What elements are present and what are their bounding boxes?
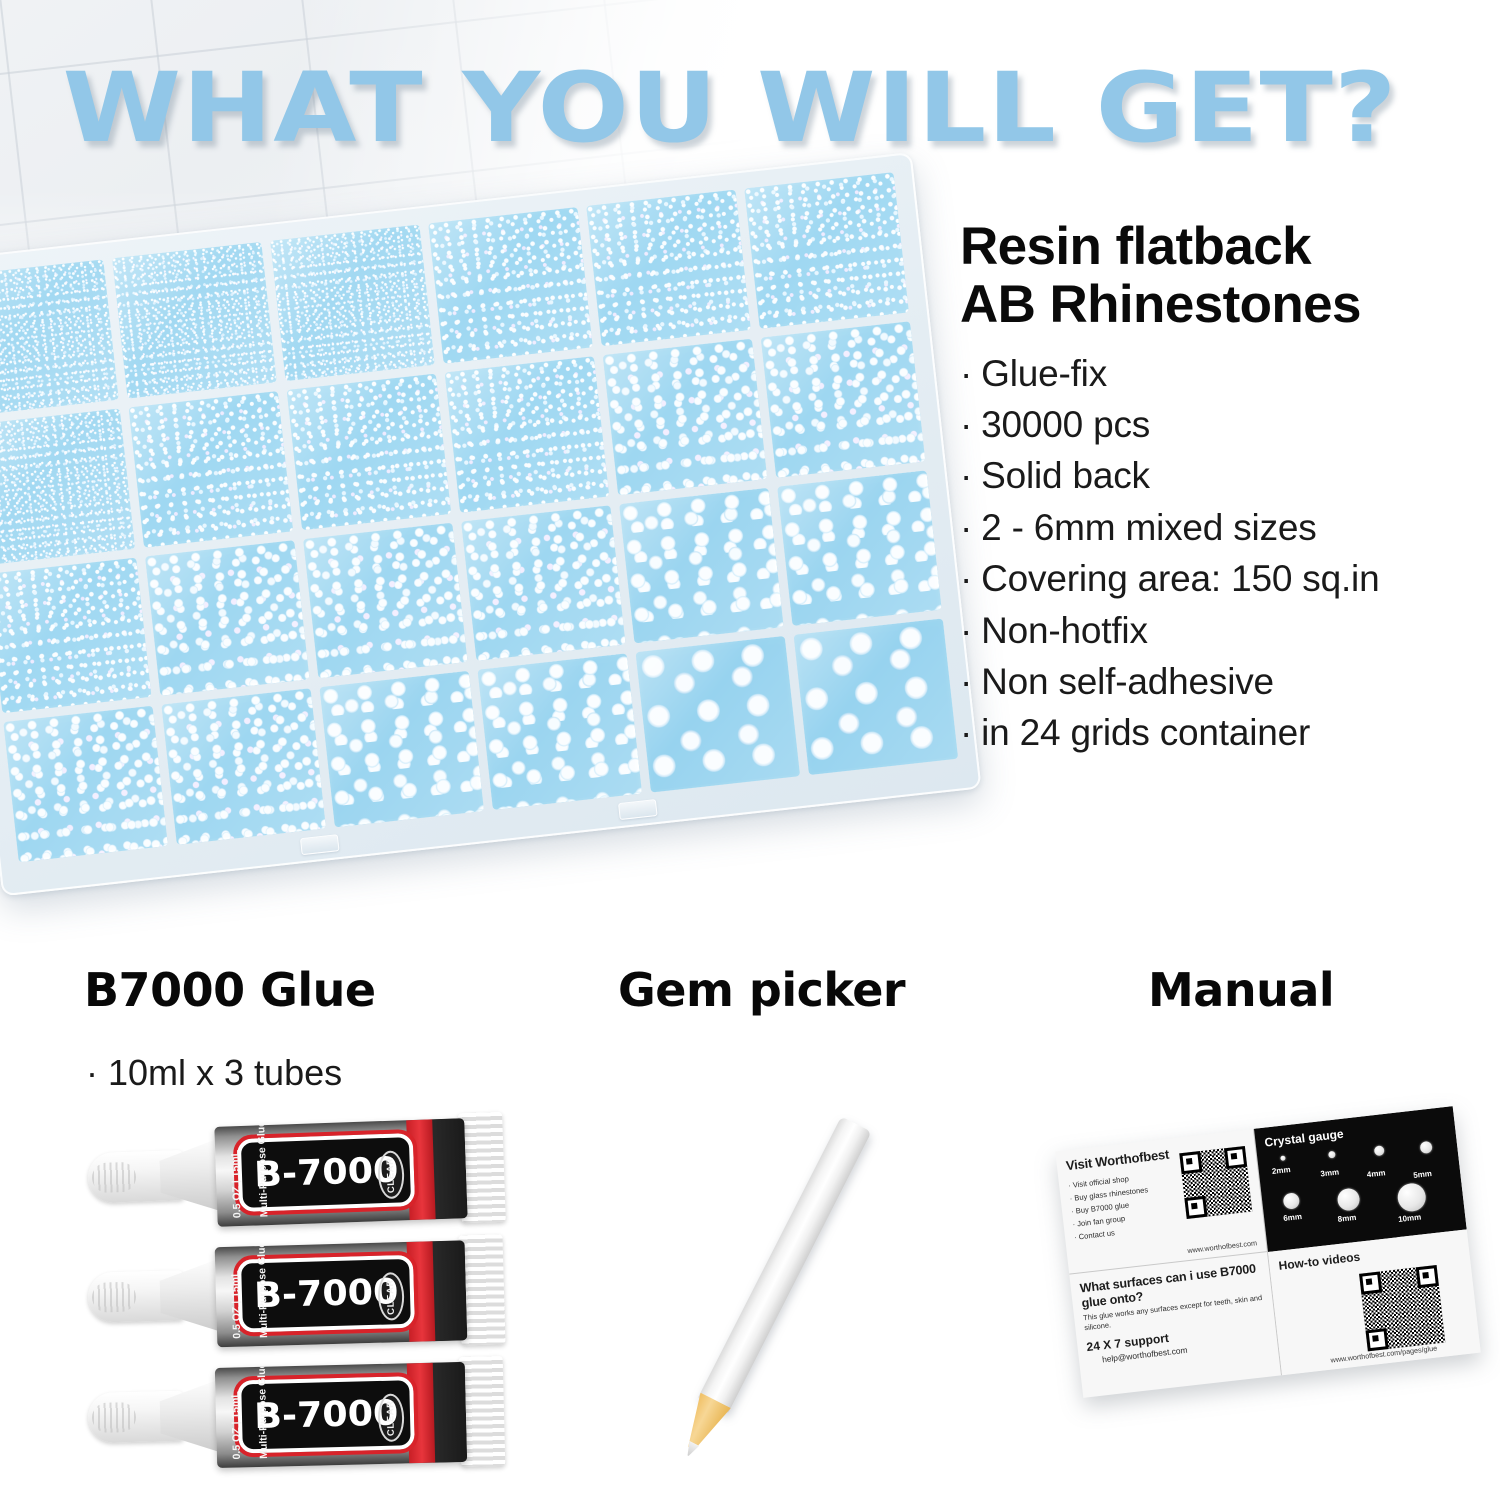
bullet-dot: ·: [960, 507, 972, 548]
bullet-dot: ·: [960, 558, 972, 599]
feature-text: Glue-fix: [981, 353, 1107, 394]
manual-quadrant-visit: Visit Worthofbest · Visit official shop …: [1055, 1129, 1268, 1275]
feature-item: ·Non-hotfix: [960, 605, 1490, 656]
gem-swatch: [1374, 1145, 1385, 1156]
rhinestone-cell: [129, 391, 294, 547]
rhinestone-cell: [270, 225, 435, 381]
bullet-dot: ·: [960, 661, 972, 702]
rhinestone-cell: [0, 408, 135, 564]
gem-size-label: 4mm: [1366, 1168, 1386, 1179]
product-feature-list: ·Glue-fix ·30000 pcs ·Solid back ·2 - 6m…: [960, 348, 1490, 759]
rhinestone-cell: [636, 636, 801, 792]
rhinestone-cell: [303, 522, 468, 678]
tube-body-shadow: [430, 1118, 467, 1219]
gem-size-label: 6mm: [1283, 1212, 1303, 1223]
rhinestone-cell: [161, 688, 326, 844]
glue-tube: B-7000 CLEAR Multi-Purpose Glue 0.5 OZ |…: [87, 1359, 509, 1473]
glue-tube: B-7000 CLEAR Multi-Purpose Glue 0.5 OZ |…: [87, 1237, 510, 1353]
rhinestone-cell: [744, 172, 909, 328]
tube-body: B-7000 CLEAR Multi-Purpose Glue 0.5 OZ |…: [215, 1362, 467, 1468]
feature-item: ·Glue-fix: [960, 348, 1490, 399]
pencil-shaft: [698, 1116, 872, 1413]
rhinestone-cell: [112, 242, 277, 398]
tube-body: B-7000 CLEAR Multi-Purpose Glue 0.5 OZ |…: [215, 1240, 468, 1347]
rhinestone-cell: [0, 557, 152, 713]
rhinestone-cell: [287, 373, 452, 529]
manual-visit-url: www.worthofbest.com: [1187, 1238, 1257, 1255]
rhinestone-cell: [3, 706, 168, 862]
rhinestone-container: [0, 215, 975, 935]
manual-card-surface: Visit Worthofbest · Visit official shop …: [1055, 1106, 1481, 1398]
feature-item: ·30000 pcs: [960, 399, 1490, 450]
qr-finder-icon: [1359, 1271, 1382, 1294]
gem-swatch: [1420, 1141, 1433, 1154]
tube-brand-text: B-7000: [253, 1150, 398, 1195]
rhinestone-cell: [761, 321, 926, 477]
rhinestone-cell: [603, 338, 768, 494]
tube-volume-text: 0.5 OZ | 15mL: [229, 1150, 243, 1219]
rhinestone-cell: [0, 259, 119, 415]
gem-swatch: [1396, 1182, 1427, 1213]
manual-card: Visit Worthofbest · Visit official shop …: [1068, 1128, 1488, 1408]
bullet-dot: ·: [960, 610, 972, 651]
rhinestone-cell: [619, 487, 784, 643]
feature-text: 30000 pcs: [981, 404, 1150, 445]
rhinestone-cell: [794, 619, 959, 775]
tube-purpose-text: Multi-Purpose Glue: [256, 1362, 270, 1459]
tube-purpose-text: Multi-Purpose Glue: [255, 1121, 270, 1218]
tube-purpose-text: Multi-Purpose Glue: [256, 1242, 271, 1339]
bullet-dot: ·: [960, 455, 972, 496]
product-heading-line1: Resin flatback: [960, 217, 1311, 276]
feature-item: ·Covering area: 150 sq.in: [960, 553, 1490, 604]
feature-text: Covering area: 150 sq.in: [981, 558, 1379, 599]
qr-finder-icon: [1184, 1196, 1207, 1219]
rhinestone-box: [0, 152, 982, 896]
tube-volume-text: 0.5 OZ | 15mL: [229, 1391, 243, 1460]
qr-code-icon[interactable]: [1359, 1265, 1445, 1351]
tube-body: B-7000 CLEAR Multi-Purpose Glue 0.5 OZ |…: [214, 1118, 467, 1227]
gem-size-label: 8mm: [1337, 1213, 1357, 1224]
product-heading: Resin flatback AB Rhinestones: [960, 218, 1490, 334]
gem-size-label: 2mm: [1271, 1165, 1291, 1176]
section-heading-glue: B7000 Glue: [84, 963, 376, 1017]
rhinestone-cell: [478, 654, 643, 810]
rhinestone-cell: [445, 356, 610, 512]
feature-text: Solid back: [981, 455, 1150, 496]
gem-swatch: [1328, 1151, 1336, 1159]
gem-swatch: [1336, 1187, 1360, 1211]
manual-quadrant-videos: How-to videos www.worthofbest.com/pages/…: [1268, 1229, 1481, 1375]
rhinestone-cell: [461, 505, 626, 661]
bullet-dot: ·: [960, 353, 972, 394]
tube-clear-text: CLEAR: [385, 1157, 397, 1193]
feature-item: ·in 24 grids container: [960, 707, 1490, 758]
glue-tube: B-7000 CLEAR Multi-Purpose Glue 0.5 OZ |…: [86, 1115, 509, 1234]
bullet-dot: ·: [960, 712, 972, 753]
gem-swatch: [1280, 1155, 1286, 1161]
tube-volume-text: 0.5 OZ | 15mL: [229, 1270, 243, 1339]
rhinestone-grid: [0, 172, 958, 862]
box-latch[interactable]: [300, 834, 340, 855]
feature-text: 2 - 6mm mixed sizes: [981, 507, 1316, 548]
pencil-graphic: [682, 1116, 871, 1443]
tube-body-shadow: [431, 1240, 468, 1341]
manual-quadrant-crystal-gauge: Crystal gauge 2mm 3mm 4mm 5mm 6mm 8mm 10…: [1254, 1106, 1467, 1252]
rhinestone-cell: [319, 671, 484, 827]
tube-clear-text: CLEAR: [385, 1278, 397, 1314]
feature-text: in 24 grids container: [981, 712, 1310, 753]
tube-body-shadow: [431, 1362, 467, 1463]
qr-code-icon[interactable]: [1179, 1146, 1252, 1219]
feature-item: ·Non self-adhesive: [960, 656, 1490, 707]
feature-item: ·Solid back: [960, 450, 1490, 501]
feature-text: Non-hotfix: [981, 610, 1148, 651]
box-latch[interactable]: [618, 799, 658, 820]
feature-text: Non self-adhesive: [981, 661, 1274, 702]
qr-finder-icon: [1179, 1151, 1202, 1174]
bullet-dot: ·: [960, 404, 972, 445]
section-heading-manual: Manual: [1148, 963, 1334, 1017]
tube-brand-text: B-7000: [253, 1272, 398, 1316]
qr-finder-icon: [1416, 1265, 1439, 1288]
gem-swatch: [1283, 1192, 1301, 1210]
rhinestone-cell: [777, 470, 942, 626]
rhinestone-cell: [428, 207, 593, 363]
feature-item: ·2 - 6mm mixed sizes: [960, 502, 1490, 553]
qr-finder-icon: [1366, 1328, 1389, 1351]
product-spec-panel: Resin flatback AB Rhinestones ·Glue-fix …: [960, 218, 1490, 759]
manual-quadrant-surfaces: What surfaces can i use B7000 glue onto?…: [1069, 1252, 1282, 1398]
rhinestone-cell: [145, 540, 310, 696]
rhinestone-cell: [586, 190, 751, 346]
section-heading-gem-picker: Gem picker: [618, 963, 905, 1017]
tube-brand-text: B-7000: [253, 1393, 398, 1437]
glue-subtext: · 10ml x 3 tubes: [86, 1052, 342, 1094]
gem-size-label: 3mm: [1320, 1167, 1340, 1178]
gem-picker-pencil: [640, 1085, 970, 1485]
qr-finder-icon: [1224, 1146, 1247, 1169]
gem-size-label: 10mm: [1398, 1212, 1422, 1224]
tube-clear-text: CLEAR: [385, 1400, 397, 1436]
product-heading-line2: AB Rhinestones: [960, 275, 1361, 334]
